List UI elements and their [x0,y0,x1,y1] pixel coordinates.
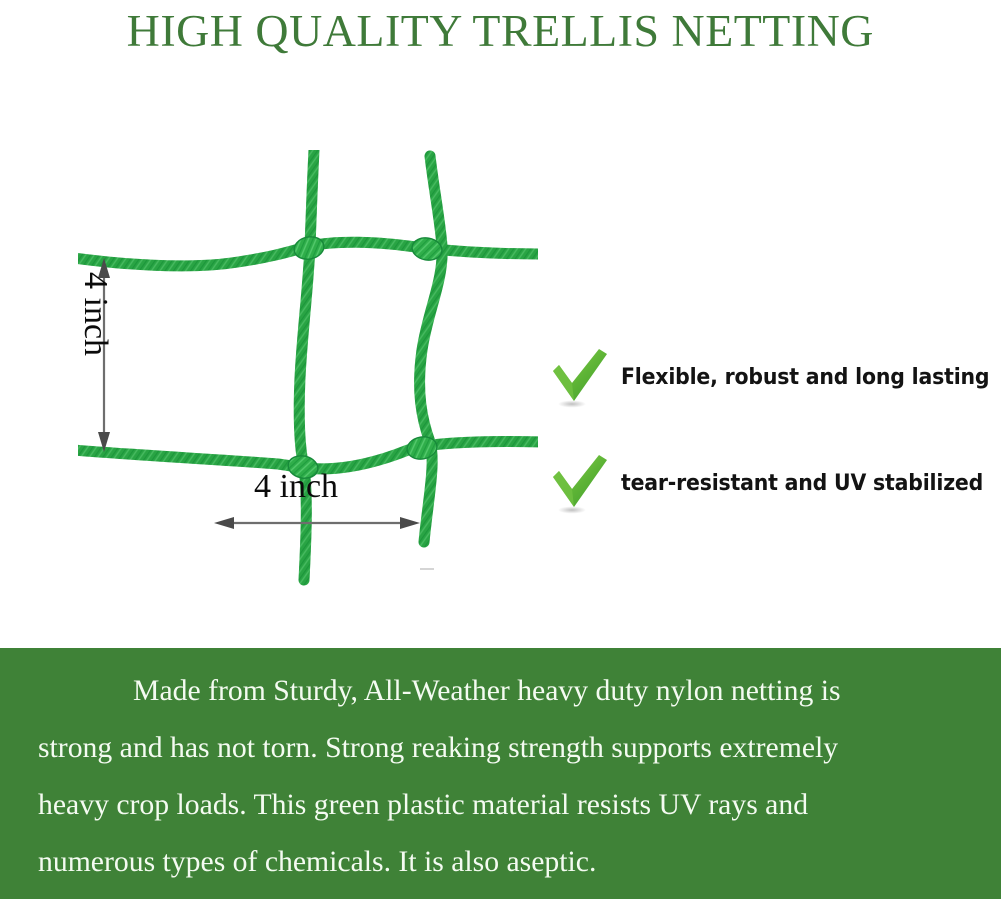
vertical-dimension-label: 4 inch [76,272,114,356]
trellis-netting-mesh-diagram: 4 inch 4 inch [78,150,538,590]
page-title: HIGH QUALITY TRELLIS NETTING [127,7,874,55]
description-line: Made from Sturdy, All-Weather heavy duty… [38,662,952,719]
description-line: numerous types of chemicals. It is also … [38,833,952,890]
feature-label: tear-resistant and UV stabilized [621,471,983,497]
horizontal-dimension-label: 4 inch [254,468,338,506]
check-icon [545,345,613,411]
feature-list: Flexible, robust and long lasting [545,325,965,537]
description-line: strong and has not torn. Strong reaking … [38,719,952,776]
scan-artifact [420,568,434,570]
horizontal-dimension-arrow [214,517,420,529]
description-panel: Made from Sturdy, All-Weather heavy duty… [0,648,1001,899]
title-bar: HIGH QUALITY TRELLIS NETTING [0,0,1001,62]
description-line: heavy crop loads. This green plastic mat… [38,776,952,833]
check-icon [545,451,613,517]
mesh-ropes [78,150,538,580]
mesh-illustration [78,150,538,590]
feature-item-tear-resistant: tear-resistant and UV stabilized [545,431,965,537]
feature-item-flexible: Flexible, robust and long lasting [545,325,965,431]
feature-label: Flexible, robust and long lasting [621,365,989,391]
